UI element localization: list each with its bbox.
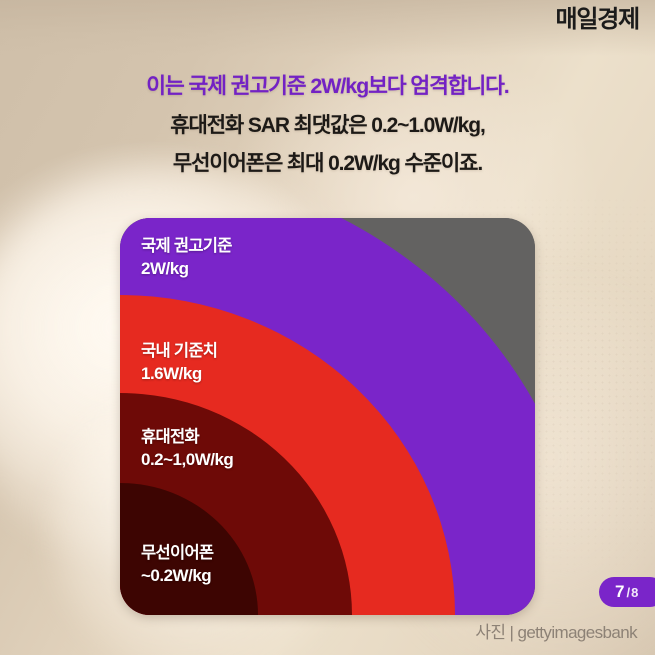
arc-label-wireless-earphone: 무선이어폰 ~0.2W/kg — [141, 544, 213, 587]
headline-block: 이는 국제 권고기준 2W/kg보다 엄격합니다. 휴대전화 SAR 최댓값은 … — [0, 76, 655, 191]
arc-label-value: 1.6W/kg — [141, 364, 217, 384]
arc-label-value: 0.2~1,0W/kg — [141, 450, 233, 470]
brand-logo: 매일경제 — [555, 8, 639, 32]
arc-label-international-standard: 국제 권고기준 2W/kg — [141, 237, 232, 280]
arc-label-name: 무선이어폰 — [141, 544, 213, 563]
page-separator: / — [626, 585, 630, 600]
infographic-card: 매일경제 이는 국제 권고기준 2W/kg보다 엄격합니다. 휴대전화 SAR … — [0, 0, 655, 655]
page-indicator[interactable]: 7 / 8 — [599, 577, 655, 607]
arc-label-mobile-phone: 휴대전화 0.2~1,0W/kg — [141, 428, 233, 471]
page-current: 7 — [615, 582, 624, 602]
arc-label-name: 국내 기준치 — [141, 342, 217, 361]
arc-label-name: 휴대전화 — [141, 428, 233, 447]
sar-nested-arc-chart: 국제 권고기준 2W/kg 국내 기준치 1.6W/kg 휴대전화 0.2~1,… — [120, 218, 535, 615]
arc-label-name: 국제 권고기준 — [141, 237, 232, 256]
headline-line-1: 이는 국제 권고기준 2W/kg보다 엄격합니다. — [0, 76, 655, 98]
page-total: 8 — [631, 585, 638, 600]
headline-line-2: 휴대전화 SAR 최댓값은 0.2~1.0W/kg, — [0, 115, 655, 136]
arc-label-domestic-standard: 국내 기준치 1.6W/kg — [141, 342, 217, 385]
photo-credit: 사진 | gettyimagesbank — [475, 618, 637, 643]
arc-label-value: ~0.2W/kg — [141, 566, 213, 586]
arc-label-value: 2W/kg — [141, 259, 232, 279]
headline-line-3: 무선이어폰은 최대 0.2W/kg 수준이죠. — [0, 153, 655, 174]
